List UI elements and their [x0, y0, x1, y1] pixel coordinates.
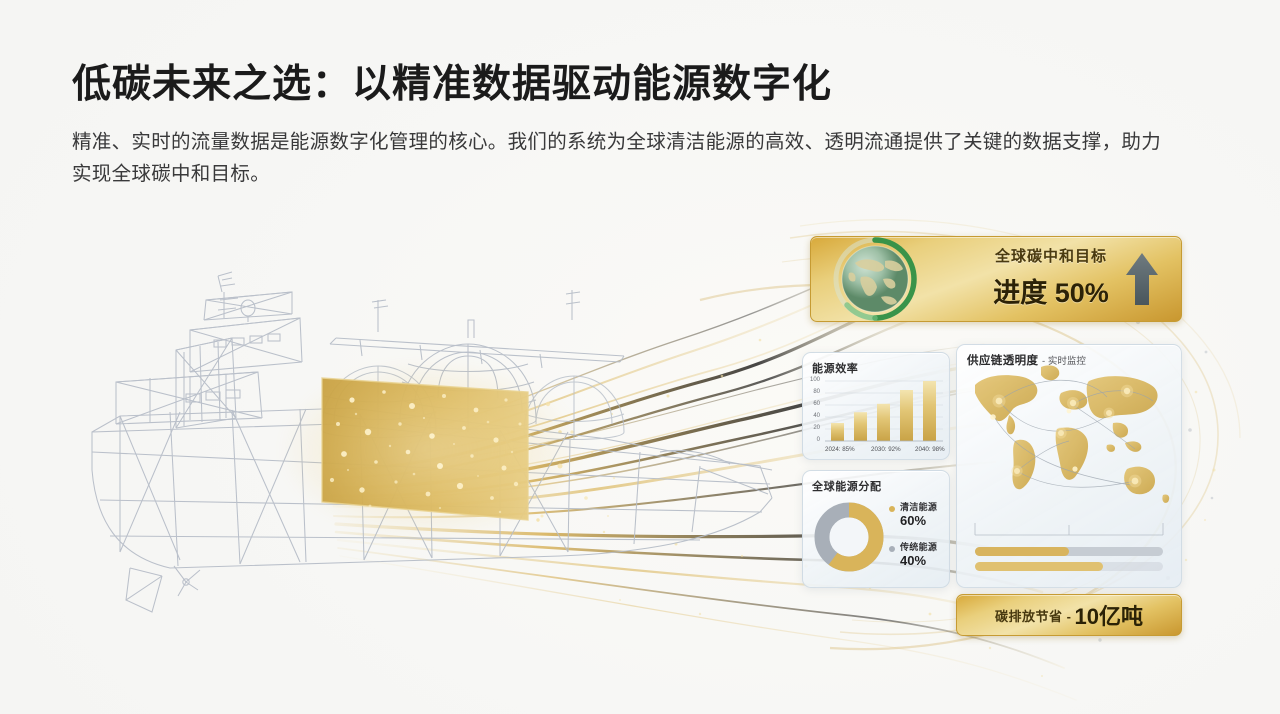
- carbon-savings-badge[interactable]: 碳排放节省 - 10亿吨: [956, 594, 1182, 636]
- legend-dot-traditional: [889, 546, 895, 552]
- carbon-goal-value: 进度 50%: [971, 271, 1131, 310]
- x-tick-2040: 2040: 98%: [915, 446, 945, 453]
- legend-value-clean: 60%: [900, 513, 926, 528]
- legend-item-clean: 清洁能源 60%: [889, 503, 937, 529]
- supply-chain-map-card[interactable]: 供应链透明度 - 实时监控: [956, 344, 1182, 588]
- energy-efficiency-chart: [803, 353, 949, 459]
- slide-canvas: 低碳未来之选：以精准数据驱动能源数字化 精准、实时的流量数据是能源数字化管理的核…: [0, 0, 1280, 714]
- y-tick-20: 20: [806, 425, 820, 431]
- y-tick-100: 100: [806, 377, 820, 383]
- x-tick-2024: 2024: 85%: [825, 446, 855, 453]
- legend-dot-clean: [889, 506, 895, 512]
- y-tick-40: 40: [806, 413, 820, 419]
- legend-label-traditional: 传统能源: [900, 542, 937, 552]
- dashboard-panel: 全球碳中和目标 进度 50% 能源效率: [802, 236, 1180, 628]
- energy-mix-card[interactable]: 全球能源分配 清洁能源 60% 传统能源 40%: [802, 470, 950, 588]
- supply-chain-progress-bars: [957, 543, 1181, 577]
- y-tick-80: 80: [806, 389, 820, 395]
- energy-mix-title: 全球能源分配: [812, 478, 882, 494]
- legend-item-traditional: 传统能源 40%: [889, 543, 937, 569]
- arrow-up-icon: [1125, 251, 1159, 307]
- y-tick-60: 60: [806, 401, 820, 407]
- legend-label-clean: 清洁能源: [900, 502, 937, 512]
- carbon-goal-label: 全球碳中和目标: [971, 249, 1131, 266]
- y-tick-0: 0: [806, 437, 820, 443]
- carbon-goal-banner[interactable]: 全球碳中和目标 进度 50%: [810, 236, 1182, 322]
- carbon-goal-text: 全球碳中和目标 进度 50%: [971, 249, 1131, 310]
- carbon-savings-value: 10亿吨: [1074, 599, 1142, 631]
- legend-value-traditional: 40%: [900, 553, 926, 568]
- energy-mix-donut: [809, 497, 889, 577]
- x-tick-2030: 2030: 92%: [871, 446, 901, 453]
- carbon-savings-label: 碳排放节省 -: [995, 606, 1071, 625]
- energy-efficiency-card[interactable]: 能源效率: [802, 352, 950, 460]
- globe-icon: [825, 229, 925, 329]
